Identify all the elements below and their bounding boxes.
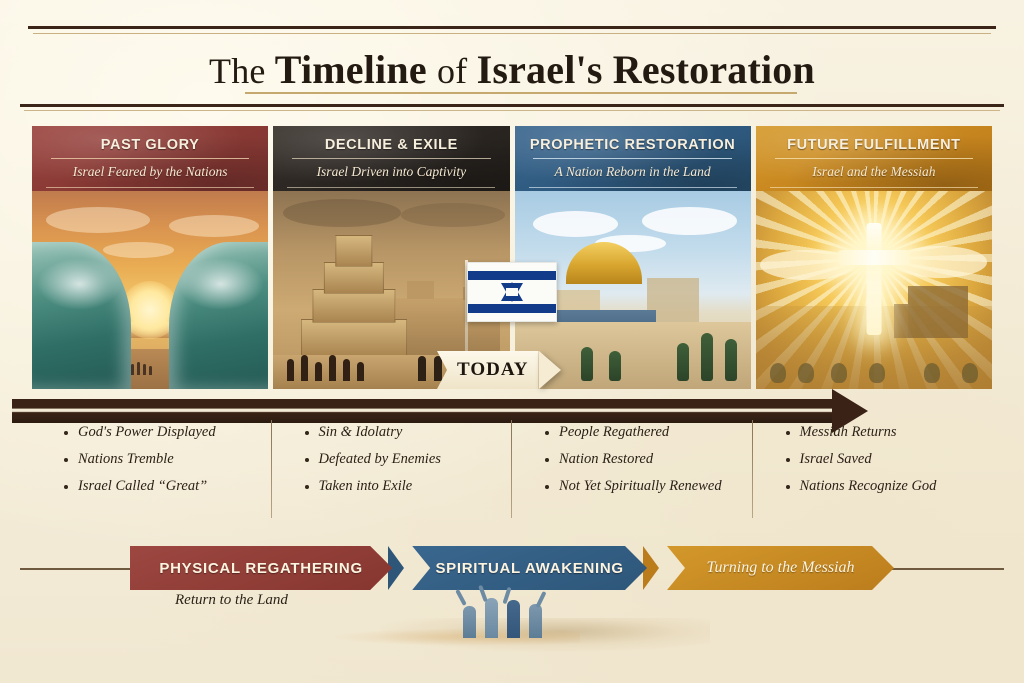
cloud-icon	[169, 215, 259, 237]
star-of-david-icon	[501, 281, 523, 303]
ruined-structure	[908, 286, 968, 338]
figure	[463, 606, 476, 638]
list-item: People Regathered	[545, 424, 752, 441]
process-step-spiritual-awakening[interactable]: SPIRITUAL AWAKENING	[412, 546, 647, 590]
list-item: Messiah Returns	[786, 424, 993, 441]
bullet-column-decline-exile: Sin & Idolatry Defeated by Enemies Taken…	[271, 424, 512, 524]
today-arrow-tip	[539, 351, 561, 389]
panel-header-divider	[292, 158, 490, 159]
list-item: Not Yet Spiritually Renewed	[545, 478, 752, 495]
today-marker[interactable]: TODAY	[437, 351, 561, 389]
panel-future-fulfillment[interactable]: FUTURE FULFILLMENT Israel and the Messia…	[756, 126, 992, 389]
flag-stripe-top	[468, 271, 556, 280]
cloud-icon	[103, 242, 174, 258]
bullet-column-prophetic-restoration: People Regathered Nation Restored Not Ye…	[511, 424, 752, 524]
cypress-tree-icon	[609, 351, 621, 381]
process-steps: PHYSICAL REGATHERING SPIRITUAL AWAKENING…	[130, 546, 894, 590]
list-item: Nations Recognize God	[786, 478, 993, 495]
panel-header-subtitle: Israel and the Messiah	[812, 164, 935, 180]
tree-icon	[924, 363, 940, 383]
panel-header-bottom-line	[770, 187, 978, 188]
panel-header-title: PROPHETIC RESTORATION	[530, 137, 735, 153]
panel-header-subtitle: A Nation Reborn in the Land	[555, 164, 711, 180]
cross-icon-crossbar	[838, 250, 910, 265]
star-center	[506, 288, 518, 296]
title-word-of: of	[437, 51, 477, 91]
timeline-arrow-shaft	[12, 399, 842, 423]
process-step-label: Turning to the Messiah	[707, 559, 855, 577]
panel-header-divider	[51, 158, 249, 159]
bullet-list: People Regathered Nation Restored Not Ye…	[545, 424, 752, 495]
cypress-tree-icon	[581, 347, 593, 381]
process-caption: Return to the Land	[175, 592, 288, 609]
cypress-tree-icon	[701, 333, 713, 381]
title-word-the: The	[209, 51, 275, 91]
infographic-canvas: The Timeline of Israel's Restoration PAS…	[0, 0, 1024, 683]
cloud-icon	[46, 207, 150, 233]
cloud-icon	[642, 207, 737, 235]
list-item: Israel Called “Great”	[64, 478, 271, 495]
process-step-label: SPIRITUAL AWAKENING	[435, 560, 623, 577]
panel-header-prophetic-restoration: PROPHETIC RESTORATION A Nation Reborn in…	[515, 126, 751, 191]
panel-header-title: FUTURE FULFILLMENT	[787, 137, 961, 153]
panel-header-subtitle: Israel Feared by the Nations	[73, 164, 228, 180]
panel-illustration-radiant-cross	[756, 191, 992, 389]
list-item: Israel Saved	[786, 451, 993, 468]
process-rule-left	[20, 568, 130, 570]
sea-foam-left	[37, 258, 122, 309]
title-word-israels-restoration: Israel's Restoration	[477, 47, 815, 92]
page-title: The Timeline of Israel's Restoration	[0, 46, 1024, 93]
raised-arm	[478, 585, 488, 602]
header-divider-rule	[20, 104, 1004, 107]
israelites-figures	[131, 362, 152, 375]
figure	[529, 604, 542, 638]
flag-cloth	[467, 262, 557, 322]
tree-icon	[962, 363, 978, 383]
panel-header-subtitle: Israel Driven into Captivity	[317, 164, 467, 180]
list-item: Nation Restored	[545, 451, 752, 468]
bullet-columns: God's Power Displayed Nations Tremble Is…	[32, 424, 992, 524]
israel-flag	[455, 248, 563, 368]
header-divider-rule-thin	[24, 110, 1000, 111]
bullet-list: Sin & Idolatry Defeated by Enemies Taken…	[305, 424, 512, 495]
panel-header-bottom-line	[287, 187, 495, 188]
ziggurat-icon	[302, 235, 406, 358]
title-word-timeline: Timeline	[275, 47, 437, 92]
panel-header-divider	[533, 158, 731, 159]
figure	[485, 598, 498, 638]
cypress-tree-icon	[677, 343, 689, 381]
cloud-icon	[533, 211, 618, 237]
top-border-rule	[28, 26, 996, 29]
top-border-rule-thin	[33, 33, 991, 34]
panel-header-title: DECLINE & EXILE	[325, 137, 458, 153]
flag-stripe-bottom	[468, 304, 556, 313]
panel-header-decline-exile: DECLINE & EXILE Israel Driven into Capti…	[273, 126, 509, 191]
storm-cloud-icon	[401, 203, 505, 227]
worshipper-figures	[455, 588, 575, 650]
list-item: Nations Tremble	[64, 451, 271, 468]
list-item: Defeated by Enemies	[305, 451, 512, 468]
raised-arm	[535, 591, 546, 608]
process-step-turning-to-the-messiah[interactable]: Turning to the Messiah	[667, 546, 894, 590]
today-label: TODAY	[457, 359, 529, 381]
list-item: Taken into Exile	[305, 478, 512, 495]
tree-icon	[770, 363, 786, 383]
panel-past-glory[interactable]: PAST GLORY Israel Feared by the Nations	[32, 126, 268, 389]
panel-header-past-glory: PAST GLORY Israel Feared by the Nations	[32, 126, 268, 191]
process-rule-right	[892, 568, 1004, 570]
panel-header-title: PAST GLORY	[101, 137, 200, 153]
panel-header-bottom-line	[46, 187, 254, 188]
tree-icon	[798, 363, 814, 383]
sea-foam-right	[178, 258, 263, 309]
figure	[507, 600, 520, 638]
process-step-physical-regathering[interactable]: PHYSICAL REGATHERING	[130, 546, 392, 590]
bullet-list: Messiah Returns Israel Saved Nations Rec…	[786, 424, 993, 495]
raised-arm	[455, 589, 467, 606]
panel-illustration-parted-sea	[32, 191, 268, 389]
bullet-column-future-fulfillment: Messiah Returns Israel Saved Nations Rec…	[752, 424, 993, 524]
panel-header-future-fulfillment: FUTURE FULFILLMENT Israel and the Messia…	[756, 126, 992, 191]
exile-figures-left	[287, 355, 364, 381]
tree-icon	[831, 363, 847, 383]
cross-icon	[866, 223, 881, 335]
sea-sunset-backdrop	[32, 191, 268, 389]
list-item: God's Power Displayed	[64, 424, 271, 441]
storm-cloud-icon	[283, 199, 401, 227]
timeline-arrow	[12, 396, 1012, 426]
panel-header-bottom-line	[529, 187, 737, 188]
bullet-list: God's Power Displayed Nations Tremble Is…	[64, 424, 271, 495]
process-step-label: PHYSICAL REGATHERING	[159, 560, 362, 577]
today-label-banner: TODAY	[437, 351, 539, 389]
tree-icon	[869, 363, 885, 383]
title-underline	[245, 92, 797, 94]
panel-header-divider	[775, 158, 973, 159]
glory-backdrop	[756, 191, 992, 389]
cypress-tree-icon	[725, 339, 737, 381]
bullet-column-past-glory: God's Power Displayed Nations Tremble Is…	[32, 424, 271, 524]
list-item: Sin & Idolatry	[305, 424, 512, 441]
